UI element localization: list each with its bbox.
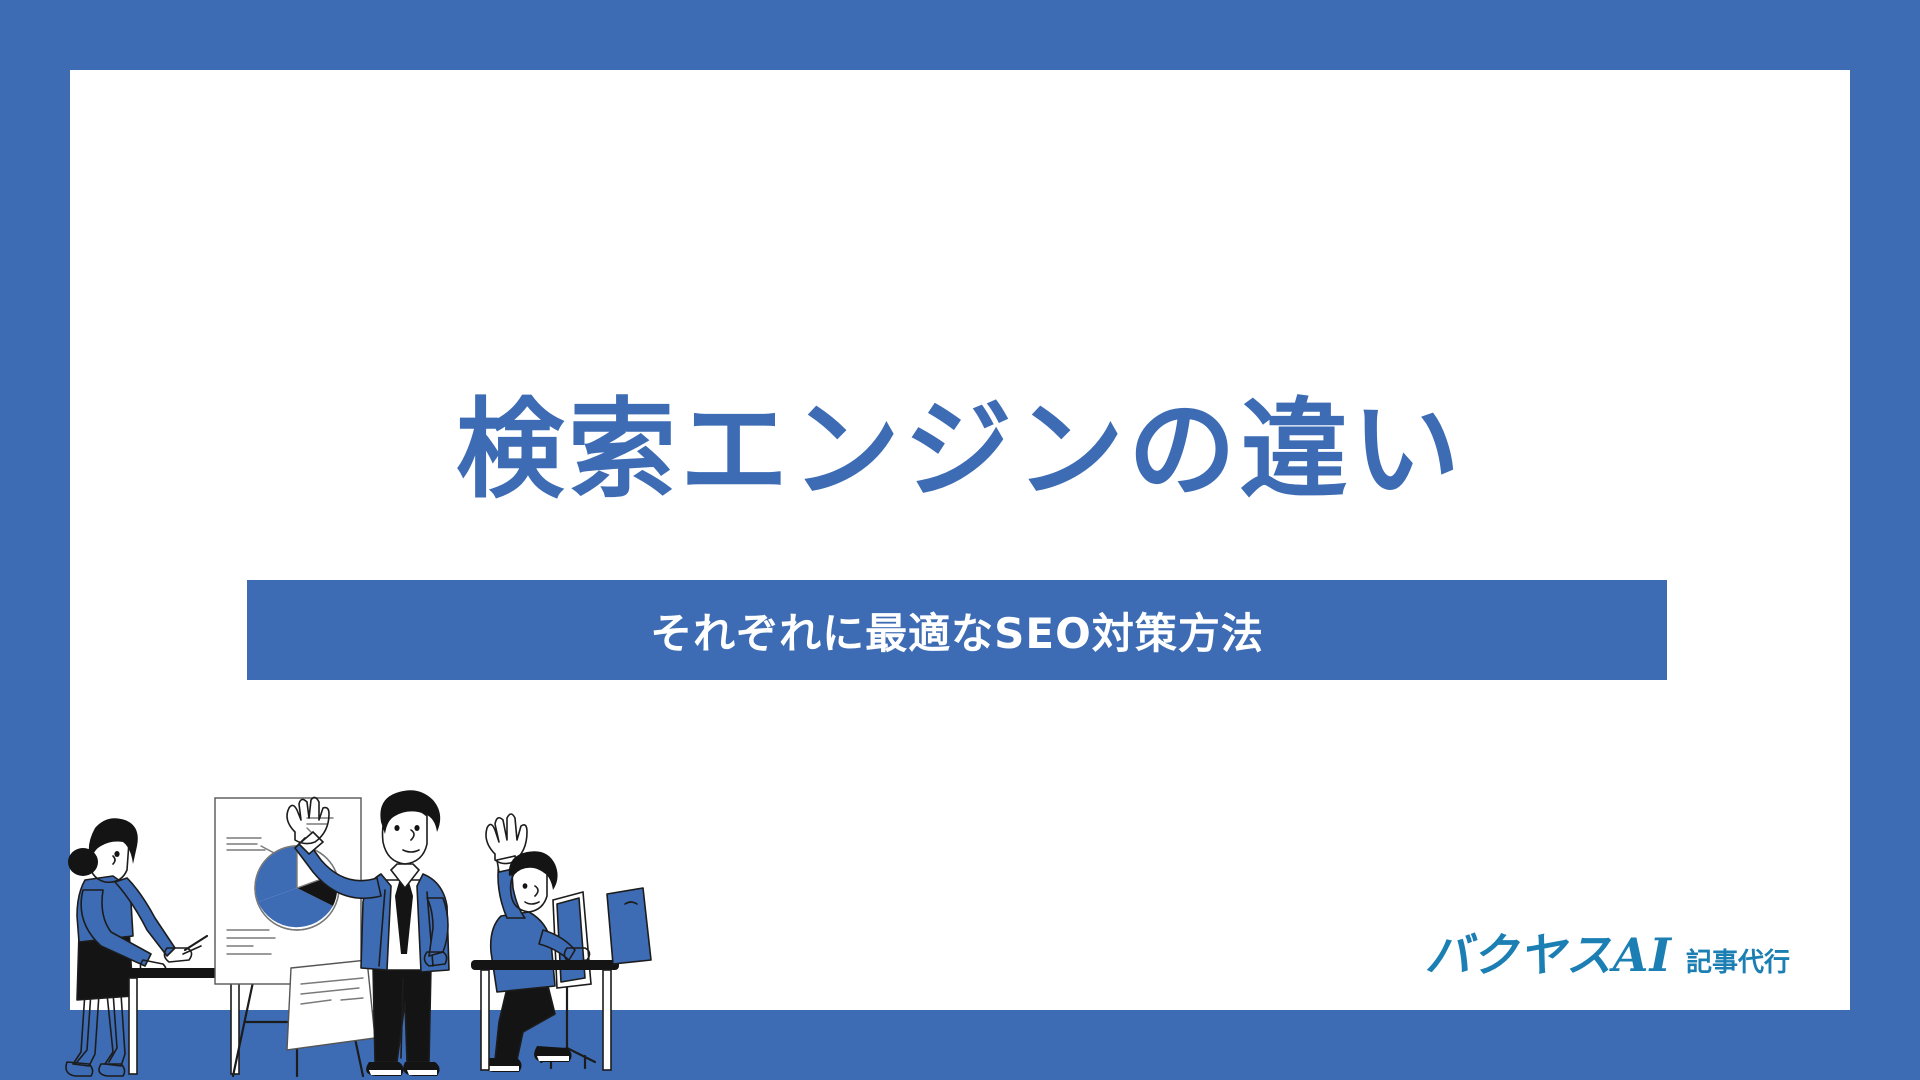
brand-name: バクヤスAI [1425,919,1672,985]
business-presentation-illustration: .bl { fill:#3D6CB5; } .bk { fill:#141414… [55,770,675,1080]
subtitle-text: それぞれに最適なSEO対策方法 [650,600,1264,661]
page-title: 検索エンジンの違い [0,390,1920,511]
monitor [607,888,651,964]
title-slide: 検索エンジンの違い それぞれに最適なSEO対策方法 .bl { fill:#3D… [0,0,1920,1080]
brand-logo: バクヤスAI 記事代行 [1425,919,1790,985]
illustration-svg: .bl { fill:#3D6CB5; } .bk { fill:#141414… [55,770,675,1080]
subtitle-band: それぞれに最適なSEO対策方法 [247,580,1667,680]
figure-seated-person [484,814,595,1072]
brand-service: 記事代行 [1686,942,1790,979]
pie-chart [255,846,339,930]
